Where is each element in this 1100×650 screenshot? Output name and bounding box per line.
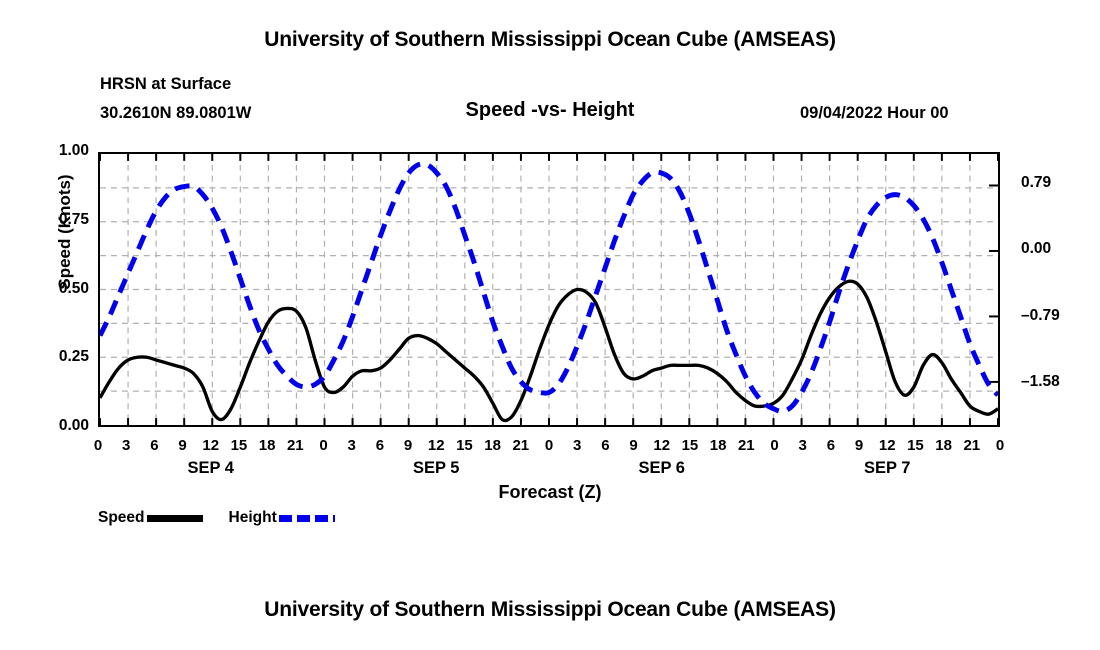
x-axis-tick-label: 12 [423,437,449,454]
x-axis-tick-label: 0 [85,437,111,454]
x-axis-tick-label: 12 [649,437,675,454]
x-axis-tick-label: 18 [254,437,280,454]
y-axis-left-tick-label: 0.75 [31,211,89,229]
x-axis-tick-label: 15 [451,437,477,454]
y-axis-left-tick-label: 0.25 [31,348,89,366]
legend-swatch-height [279,515,335,522]
chart-page: University of Southern Mississippi Ocean… [0,0,1100,650]
x-axis-tick-label: 18 [480,437,506,454]
x-axis-tick-label: 21 [282,437,308,454]
forecast-datetime-label: 09/04/2022 Hour 00 [800,104,949,123]
legend-swatch-speed [147,515,203,522]
x-axis-tick-label: 9 [170,437,196,454]
legend-label-height: Height [229,509,277,527]
x-axis-day-label: SEP 6 [602,459,722,478]
x-axis-tick-label: 3 [113,437,139,454]
y-axis-left-tick-label: 0.00 [31,417,89,435]
page-title: University of Southern Mississippi Ocean… [0,28,1100,52]
x-axis-tick-label: 6 [367,437,393,454]
y-axis-right-tick-label: –0.79 [1021,307,1091,325]
y-axis-right-tick-label: 0.00 [1021,240,1091,258]
y-axis-right-tick-label: –1.58 [1021,373,1091,391]
x-axis-tick-label: 21 [508,437,534,454]
x-axis-tick-label: 6 [141,437,167,454]
x-axis-tick-label: 21 [733,437,759,454]
x-axis-tick-label: 9 [621,437,647,454]
y-axis-left-tick-label: 0.50 [31,280,89,298]
x-axis-tick-label: 3 [339,437,365,454]
y-axis-left-tick-label: 1.00 [31,142,89,160]
x-axis-tick-label: 18 [705,437,731,454]
x-axis-tick-label: 3 [790,437,816,454]
x-axis-tick-label: 12 [198,437,224,454]
x-axis-tick-label: 0 [311,437,337,454]
x-axis-tick-label: 18 [931,437,957,454]
data-layer [100,154,998,425]
x-axis-tick-label: 0 [987,437,1013,454]
plot-area [98,152,1000,427]
footer-title: University of Southern Mississippi Ocean… [0,598,1100,622]
x-axis-tick-label: 0 [762,437,788,454]
x-axis-day-label: SEP 5 [376,459,496,478]
x-axis-title: Forecast (Z) [0,482,1100,503]
station-label: HRSN at Surface [100,75,231,94]
x-axis-tick-label: 15 [677,437,703,454]
y-axis-left-title: Speed (Knots) [55,132,75,332]
x-axis-day-label: SEP 7 [827,459,947,478]
y-axis-right-tick-label: 0.79 [1021,174,1091,192]
x-axis-tick-label: 6 [818,437,844,454]
x-axis-tick-label: 9 [395,437,421,454]
x-axis-tick-label: 0 [536,437,562,454]
legend-item-speed: Speed [98,509,203,527]
legend: Speed Height [98,508,361,528]
x-axis-tick-label: 6 [592,437,618,454]
x-axis-day-label: SEP 4 [151,459,271,478]
legend-item-height: Height [229,509,335,527]
x-axis-tick-label: 3 [564,437,590,454]
legend-label-speed: Speed [98,509,145,527]
x-axis-tick-label: 15 [902,437,928,454]
x-axis-tick-label: 9 [846,437,872,454]
x-axis-tick-label: 15 [226,437,252,454]
x-axis-tick-label: 12 [874,437,900,454]
x-axis-tick-label: 21 [959,437,985,454]
